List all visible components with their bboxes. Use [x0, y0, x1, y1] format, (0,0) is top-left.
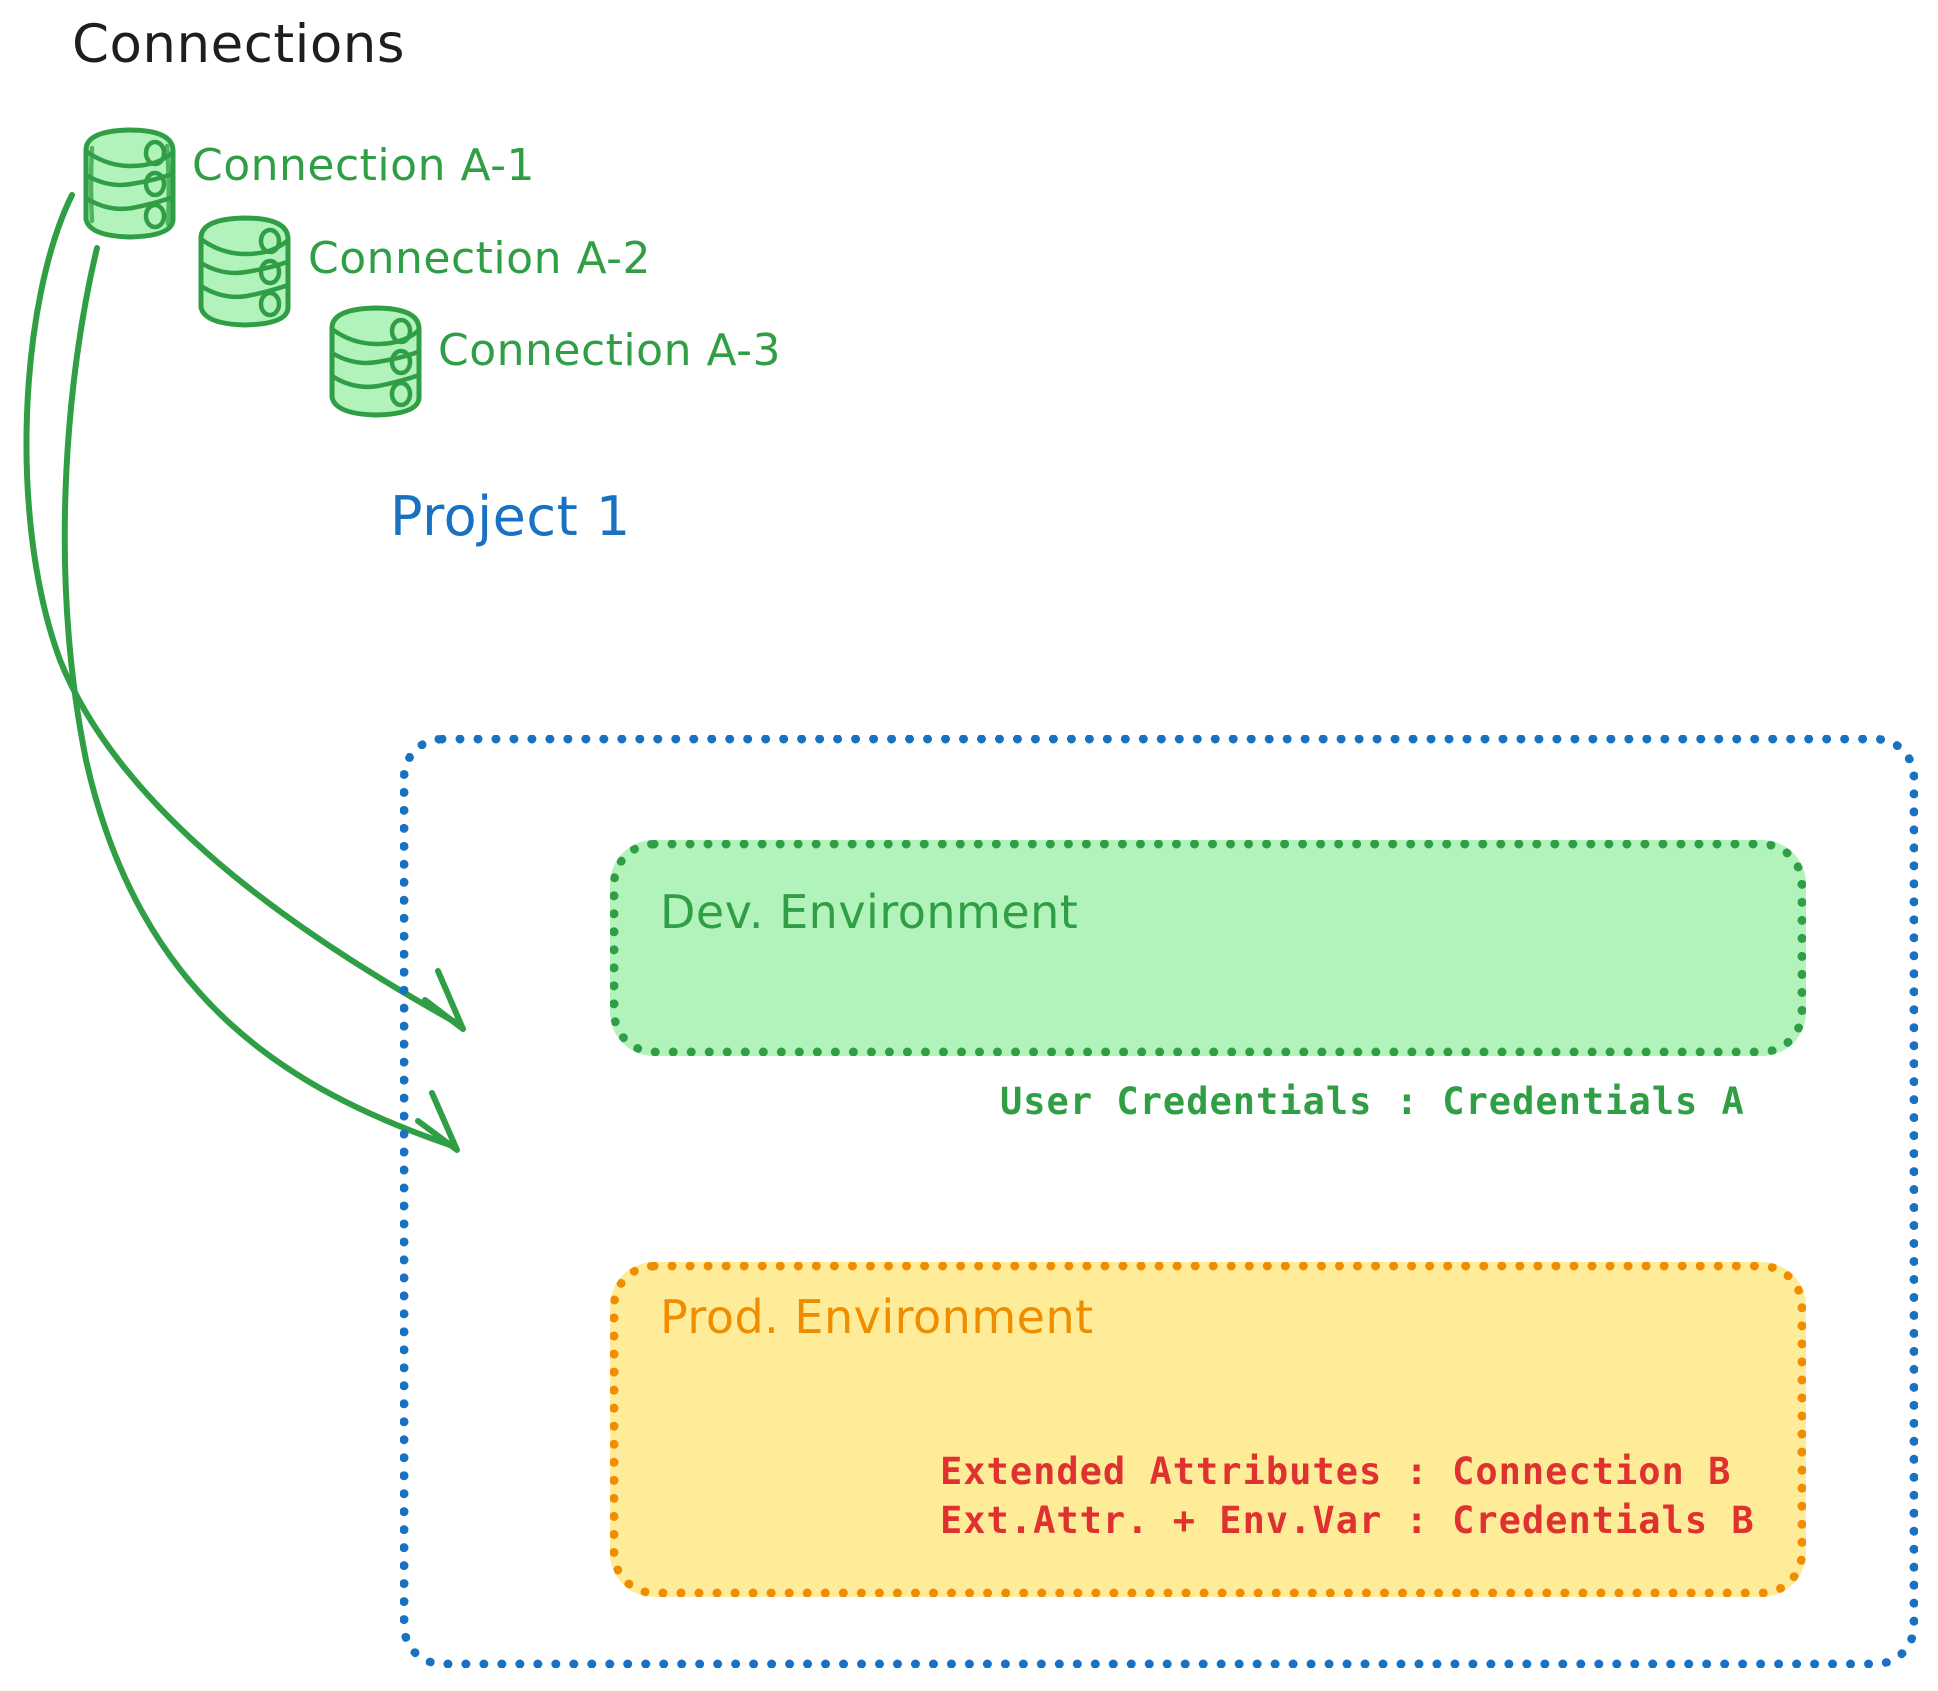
prod-environment-env-var-line: Ext.Attr. + Env.Var : Credentials B [940, 1497, 1755, 1546]
dev-environment-credentials-line: User Credentials : Credentials A [1000, 1080, 1745, 1123]
prod-environment-extended-attributes-line: Extended Attributes : Connection B [940, 1448, 1755, 1497]
connection-label-a2: Connection A-2 [308, 233, 651, 284]
arrow-connection-a1-to-dev-environment [26, 195, 463, 1029]
dev-environment-title: Dev. Environment [660, 885, 1078, 939]
database-cylinder-icon-1[interactable] [85, 130, 173, 237]
connection-label-a3: Connection A-3 [438, 325, 781, 376]
database-cylinder-icon-3[interactable] [331, 308, 419, 415]
project-title: Project 1 [390, 485, 631, 548]
page-title: Connections [72, 14, 405, 75]
arrow-connection-a1-to-prod-environment [65, 248, 457, 1150]
diagram-canvas: .cyl-fill { fill: #b2f2bb; } .cyl-stroke… [0, 0, 1938, 1691]
prod-environment-lines: Extended Attributes : Connection B Ext.A… [940, 1448, 1755, 1546]
prod-environment-title: Prod. Environment [660, 1290, 1094, 1344]
dev-environment-box[interactable] [610, 840, 1806, 1056]
connection-label-a1: Connection A-1 [192, 140, 535, 191]
database-cylinder-icon-2[interactable] [200, 218, 288, 325]
